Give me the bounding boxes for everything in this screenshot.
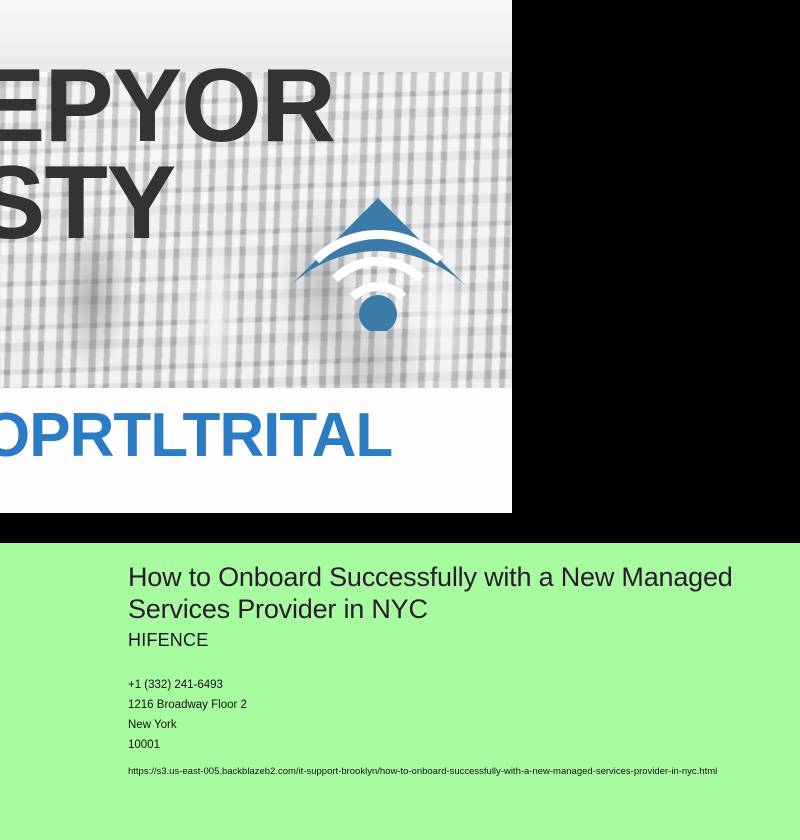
hero-banner-image: EPYOR STY OPRTLTRITAL — [0, 0, 512, 513]
contact-postal-code: 10001 — [128, 735, 800, 755]
contact-block: +1 (332) 241-6493 1216 Broadway Floor 2 … — [128, 675, 800, 755]
contact-phone: +1 (332) 241-6493 — [128, 675, 800, 695]
contact-street: 1216 Broadway Floor 2 — [128, 695, 800, 715]
page-title: How to Onboard Successfully with a New M… — [128, 562, 753, 625]
wifi-icon — [283, 186, 473, 331]
contact-city: New York — [128, 715, 800, 735]
source-url-link[interactable]: https://s3.us-east-005.backblazeb2.com/i… — [128, 761, 800, 782]
article-info-card: How to Onboard Successfully with a New M… — [0, 543, 800, 840]
brand-name: HIFENCE — [128, 630, 800, 651]
article-info-inner: How to Onboard Successfully with a New M… — [128, 562, 800, 782]
page-root: EPYOR STY OPRTLTRITAL How to Onboard — [0, 0, 800, 840]
hero-wordmark-text: OPRTLTRITAL — [0, 400, 392, 471]
hero-white-strip: OPRTLTRITAL — [0, 388, 512, 513]
